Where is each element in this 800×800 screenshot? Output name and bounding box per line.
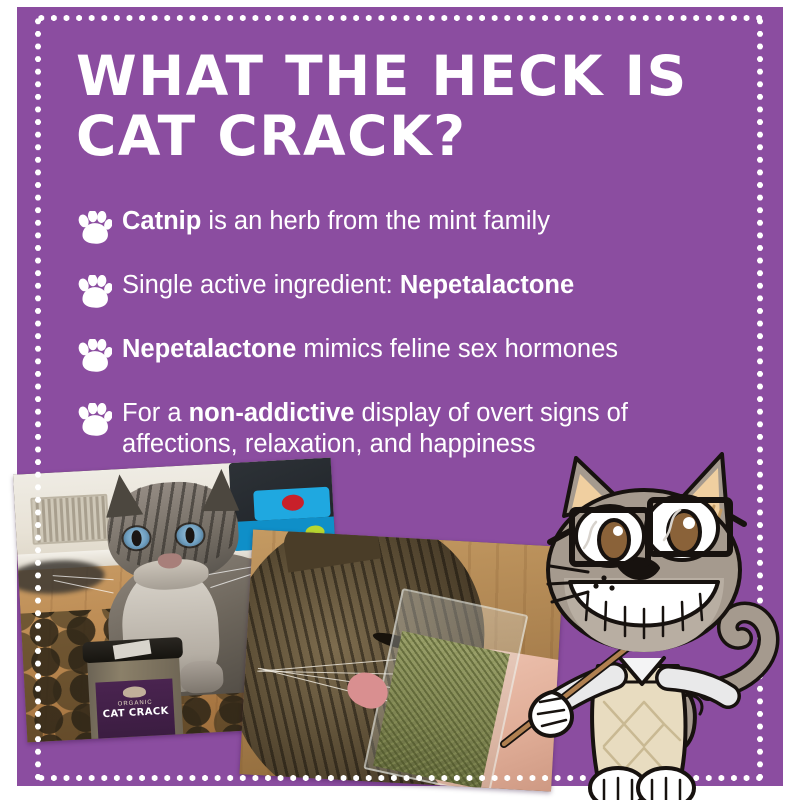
professor-cat-mascot [492,452,792,800]
page-title-line-2: Cat Crack? [76,106,716,166]
fact-list-item-text: For a non-addictive display of overt sig… [122,399,628,458]
photo1-jar-brand-text: CAT CRACK [102,705,169,720]
fact-list-item: Single active ingredient: Nepetalactone [76,270,736,327]
page-title: What the heck is Cat Crack? [76,46,716,166]
photo1-cat-paw-right [180,660,224,694]
fact-text: Single active ingredient: [122,271,400,299]
paw-print-icon [76,339,112,373]
fact-list-item-text: Catnip is an herb from the mint family [122,207,550,235]
photo2-catnip-contents [374,631,510,789]
paw-print-icon [76,275,112,309]
fact-emphasis: Nepetalactone [122,335,296,363]
page-title-line-1: What the heck is [76,46,716,106]
fact-list: Catnip is an herb from the mint family S… [76,206,736,467]
paw-print-icon [76,403,112,437]
fact-text: is an herb from the mint family [201,207,550,235]
photo1-cat-pupil-left [131,530,141,547]
photo1-cat-pupil-right [185,527,195,544]
fact-text: For a [122,399,189,427]
paw-print-icon [76,211,112,245]
photo1-catnip-jar: ORGANIC CAT CRACK [86,646,183,743]
infographic-canvas: What the heck is Cat Crack? Catnip is an… [0,0,800,800]
photo1-jar-label: ORGANIC CAT CRACK [95,679,176,743]
photo1-jar-logo-icon [123,686,147,698]
fact-list-item: Catnip is an herb from the mint family [76,206,736,263]
fact-emphasis: Nepetalactone [400,271,574,299]
fact-list-item: For a non-addictive display of overt sig… [76,398,736,460]
fact-emphasis: Catnip [122,207,201,235]
fact-list-item-text: Nepetalactone mimics feline sex hormones [122,335,618,363]
fact-list-item: Nepetalactone mimics feline sex hormones [76,334,736,391]
fact-emphasis: non-addictive [189,399,355,427]
fact-text: mimics feline sex hormones [296,335,618,363]
fact-list-item-text: Single active ingredient: Nepetalactone [122,271,574,299]
